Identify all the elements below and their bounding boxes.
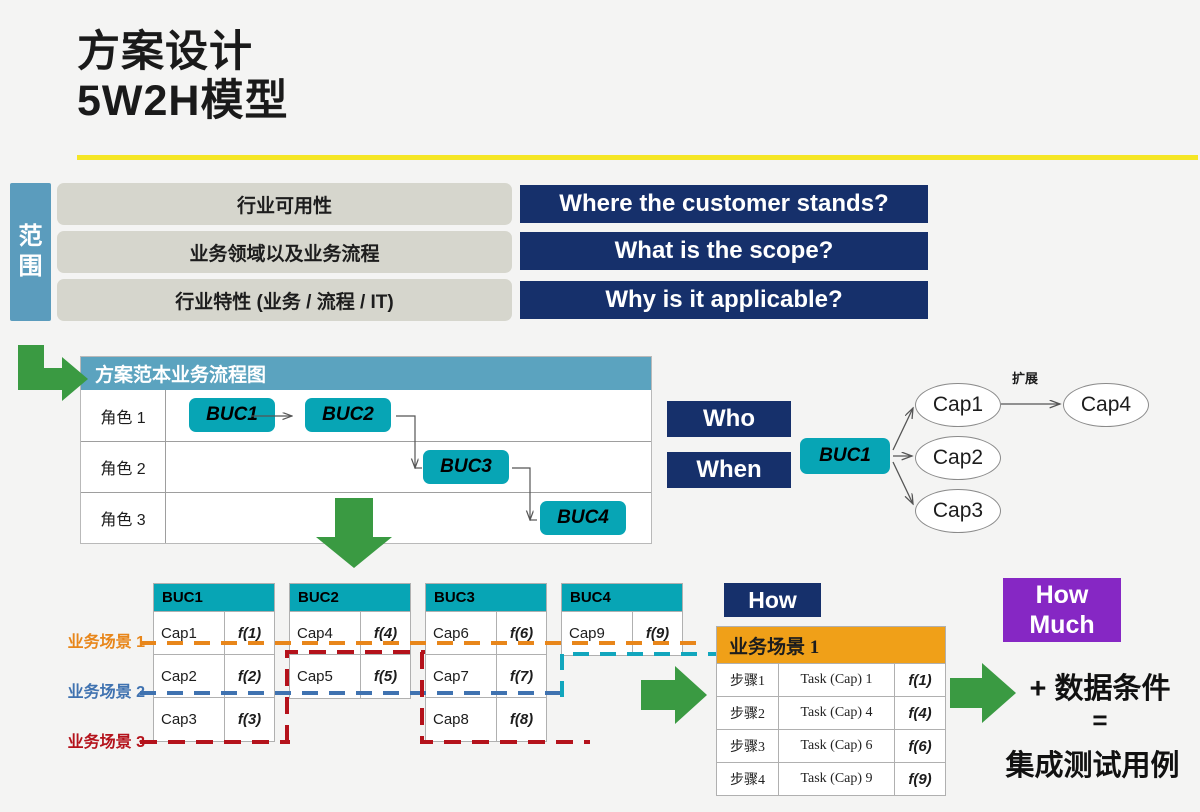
- scope-tab-char-1: 范: [19, 222, 43, 252]
- flow-role-1: 角色 1: [81, 390, 166, 441]
- scope-row-1-label: 行业可用性: [237, 191, 332, 218]
- question-what: What is the scope?: [520, 232, 928, 270]
- question-why-label: Why is it applicable?: [605, 286, 842, 314]
- cap-cell: Cap2: [154, 655, 225, 697]
- scope-row-3: 行业特性 (业务 / 流程 / IT): [57, 279, 512, 321]
- question-what-label: What is the scope?: [615, 237, 834, 265]
- flow-table-header-label: 方案范本业务流程图: [95, 360, 266, 387]
- title-line-2: 5W2H模型: [77, 77, 777, 126]
- flow-role-2: 角色 2: [81, 442, 166, 492]
- scenario-label-3: 业务场景 3: [20, 728, 145, 752]
- cap-cell: Cap5: [290, 655, 361, 698]
- buc-table-3-header: BUC3: [426, 584, 546, 612]
- scope-row-2: 业务领域以及业务流程: [57, 231, 512, 273]
- table-row: Cap4f(4): [290, 612, 410, 655]
- cap-node-cap1[interactable]: Cap1: [915, 383, 1001, 427]
- task-cell: Task (Cap) 4: [779, 697, 895, 729]
- table-row: 步骤4Task (Cap) 9f(9): [717, 762, 945, 795]
- badge-who-label: Who: [703, 405, 755, 433]
- table-row: Cap9f(9): [562, 612, 682, 655]
- f-cell: f(7): [497, 655, 546, 697]
- buc-table-1-header: BUC1: [154, 584, 274, 612]
- task-cell: Task (Cap) 9: [779, 763, 895, 795]
- f-cell: f(9): [633, 612, 682, 655]
- f-cell: f(8): [497, 698, 546, 741]
- badge-how-label: How: [748, 587, 797, 614]
- buc-table-1: BUC1 Cap1f(1) Cap2f(2) Cap3f(3): [153, 583, 275, 742]
- f-cell: f(6): [895, 730, 945, 762]
- flow-node-buc3[interactable]: BUC3: [423, 450, 509, 484]
- table-row: Cap2f(2): [154, 655, 274, 698]
- question-why: Why is it applicable?: [520, 281, 928, 319]
- f-cell: f(6): [497, 612, 546, 654]
- page-title: 方案设计 5W2H模型: [77, 28, 777, 126]
- scenario-detail-table: 业务场景 1 步骤1Task (Cap) 1f(1) 步骤2Task (Cap)…: [716, 626, 946, 796]
- buc-table-3: BUC3 Cap6f(6) Cap7f(7) Cap8f(8): [425, 583, 547, 742]
- task-cell: Task (Cap) 6: [779, 730, 895, 762]
- scope-row-2-label: 业务领域以及业务流程: [189, 239, 379, 266]
- scope-row-3-label: 行业特性 (业务 / 流程 / IT): [175, 287, 394, 314]
- table-row: Cap3f(3): [154, 698, 274, 741]
- buc-table-2: BUC2 Cap4f(4) Cap5f(5): [289, 583, 411, 699]
- table-row: Cap1f(1): [154, 612, 274, 655]
- scope-row-1: 行业可用性: [57, 183, 512, 225]
- badge-how-much-line2: Much: [1029, 610, 1094, 640]
- f-cell: f(4): [895, 697, 945, 729]
- flow-lane-2: BUC3: [166, 442, 651, 492]
- cap-cell: Cap9: [562, 612, 633, 655]
- title-line-1: 方案设计: [77, 28, 777, 77]
- question-where: Where the customer stands?: [520, 185, 928, 223]
- howmuch-equals: =: [1000, 705, 1200, 736]
- badge-how: How: [724, 583, 821, 617]
- table-row: Cap8f(8): [426, 698, 546, 741]
- flow-row-1: 角色 1 BUC1 BUC2: [81, 390, 651, 441]
- buc-table-4-header: BUC4: [562, 584, 682, 612]
- flow-role-3: 角色 3: [81, 493, 166, 543]
- task-cell: Task (Cap) 1: [779, 664, 895, 696]
- badge-when: When: [667, 452, 791, 488]
- step-cell: 步骤2: [717, 697, 779, 729]
- f-cell: f(4): [361, 612, 410, 654]
- flow-row-2: 角色 2 BUC3: [81, 441, 651, 492]
- cap-cell: Cap3: [154, 698, 225, 741]
- badge-when-label: When: [696, 456, 761, 484]
- step-cell: 步骤4: [717, 763, 779, 795]
- cap-node-cap4[interactable]: Cap4: [1063, 383, 1149, 427]
- cap-cell: Cap6: [426, 612, 497, 654]
- scenario-detail-title: 业务场景 1: [717, 627, 945, 663]
- f-cell: f(3): [225, 698, 274, 741]
- cap-cell: Cap1: [154, 612, 225, 654]
- scenario-label-2: 业务场景 2: [20, 678, 145, 702]
- f-cell: f(1): [895, 664, 945, 696]
- badge-how-much-line1: How: [1036, 580, 1089, 610]
- table-row: Cap6f(6): [426, 612, 546, 655]
- green-elbow-arrow: [18, 345, 88, 401]
- f-cell: f(5): [361, 655, 410, 698]
- title-divider: [77, 155, 1198, 160]
- table-row: 步骤2Task (Cap) 4f(4): [717, 696, 945, 729]
- f-cell: f(9): [895, 763, 945, 795]
- scope-tab-char-2: 围: [19, 252, 43, 282]
- flow-node-buc2[interactable]: BUC2: [305, 398, 391, 432]
- extend-label: 扩展: [1012, 368, 1038, 387]
- flow-node-buc4[interactable]: BUC4: [540, 501, 626, 535]
- howmuch-result: 集成测试用例: [985, 742, 1200, 784]
- question-where-label: Where the customer stands?: [559, 190, 888, 218]
- buc-table-2-header: BUC2: [290, 584, 410, 612]
- f-cell: f(1): [225, 612, 274, 654]
- scope-tab: 范 围: [10, 183, 51, 321]
- cap-cell: Cap8: [426, 698, 497, 741]
- green-right-arrow-1: [641, 666, 707, 724]
- flow-lane-1: BUC1 BUC2: [166, 390, 651, 441]
- cap-cell: Cap7: [426, 655, 497, 697]
- cap-node-cap2[interactable]: Cap2: [915, 436, 1001, 480]
- scenario-cyan-dash: [562, 654, 716, 697]
- flow-row-3: 角色 3 BUC4: [81, 492, 651, 543]
- cap-node-cap3[interactable]: Cap3: [915, 489, 1001, 533]
- badge-who: Who: [667, 401, 791, 437]
- table-row: Cap7f(7): [426, 655, 546, 698]
- cap-cell: Cap4: [290, 612, 361, 654]
- step-cell: 步骤3: [717, 730, 779, 762]
- flow-table: 方案范本业务流程图 角色 1 BUC1 BUC2 角色 2 BUC3 角色 3 …: [80, 356, 652, 544]
- flow-node-buc1[interactable]: BUC1: [189, 398, 275, 432]
- flow-lane-3: BUC4: [166, 493, 651, 543]
- f-cell: f(2): [225, 655, 274, 697]
- capability-source-buc1[interactable]: BUC1: [800, 438, 890, 474]
- badge-how-much: How Much: [1003, 578, 1121, 642]
- scenario-label-1: 业务场景 1: [20, 628, 145, 652]
- table-row: 步骤3Task (Cap) 6f(6): [717, 729, 945, 762]
- howmuch-plus-line: + 数据条件: [1000, 665, 1200, 707]
- step-cell: 步骤1: [717, 664, 779, 696]
- table-row: 步骤1Task (Cap) 1f(1): [717, 663, 945, 696]
- flow-table-header: 方案范本业务流程图: [81, 357, 651, 390]
- buc-table-4: BUC4 Cap9f(9): [561, 583, 683, 656]
- table-row: Cap5f(5): [290, 655, 410, 698]
